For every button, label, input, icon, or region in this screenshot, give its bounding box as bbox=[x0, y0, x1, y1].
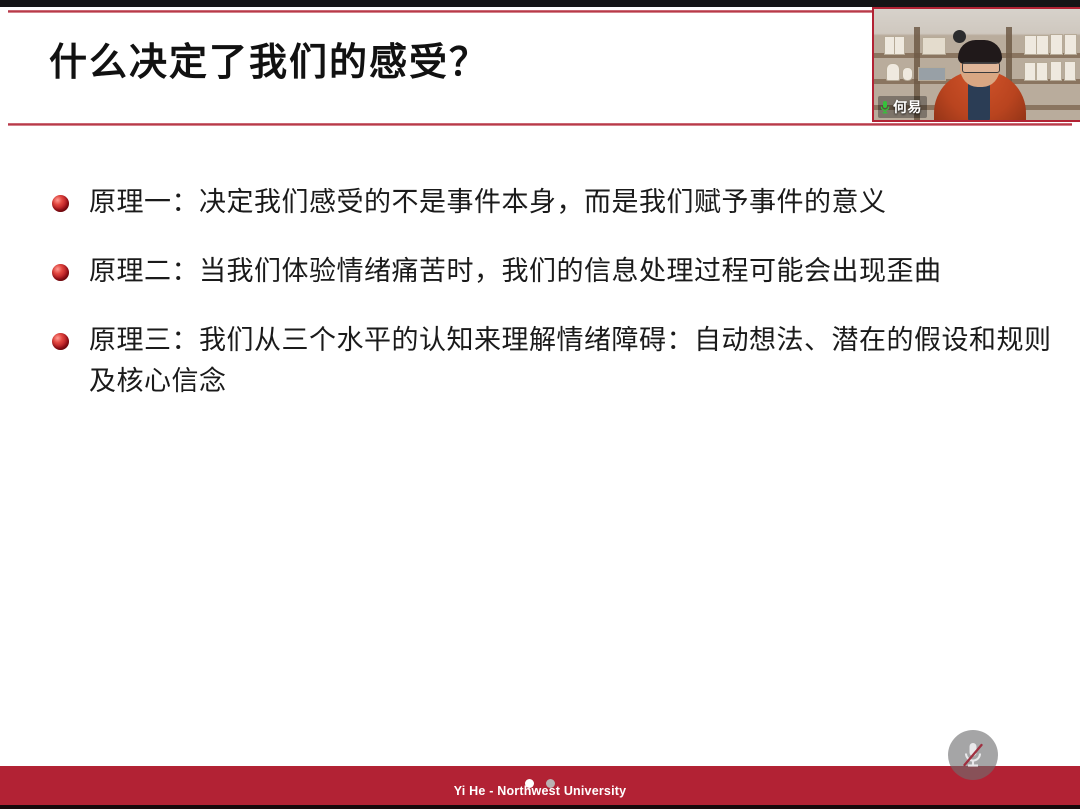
participant-video-tile[interactable]: 何易 bbox=[872, 7, 1080, 122]
book-decor bbox=[1036, 35, 1049, 55]
footer-credit: Yi He - Northwest University bbox=[0, 784, 1080, 798]
list-item: 原理二：当我们体验情绪痛苦时，我们的信息处理过程可能会出现歪曲 bbox=[0, 251, 1080, 292]
mute-toggle-button[interactable] bbox=[948, 730, 998, 780]
bullet-text: 原理三：我们从三个水平的认知来理解情绪障碍：自动想法、潜在的假设和规则及核心信念 bbox=[89, 320, 1054, 402]
slide-title: 什么决定了我们的感受？ bbox=[49, 43, 849, 85]
list-item: 原理三：我们从三个水平的认知来理解情绪障碍：自动想法、潜在的假设和规则及核心信念 bbox=[0, 320, 1080, 402]
book-decor bbox=[1050, 61, 1062, 81]
bullet-sphere-icon bbox=[52, 333, 69, 350]
speaker-decor bbox=[953, 30, 966, 43]
meeting-screen: 什么决定了我们的感受？ 原理一：决定我们感受的不是事件本身，而是我们赋予事件的意… bbox=[0, 0, 1080, 809]
book-decor bbox=[1024, 62, 1036, 81]
bullet-sphere-icon bbox=[52, 264, 69, 281]
microphone-muted-icon bbox=[959, 740, 987, 770]
vase-decor bbox=[886, 63, 900, 81]
box-decor bbox=[922, 37, 946, 55]
glasses-icon bbox=[962, 62, 1000, 73]
presentation-slide: 什么决定了我们的感受？ 原理一：决定我们感受的不是事件本身，而是我们赋予事件的意… bbox=[0, 7, 1080, 805]
top-letterbox-strip bbox=[0, 0, 1080, 7]
bullet-list: 原理一：决定我们感受的不是事件本身，而是我们赋予事件的意义 原理二：当我们体验情… bbox=[0, 182, 1080, 430]
microphone-on-icon bbox=[880, 100, 890, 114]
bullet-text: 原理二：当我们体验情绪痛苦时，我们的信息处理过程可能会出现歪曲 bbox=[89, 251, 942, 292]
book-decor bbox=[1064, 34, 1077, 55]
participant-hair bbox=[958, 40, 1002, 64]
bullet-sphere-icon bbox=[52, 195, 69, 212]
title-rule-bottom bbox=[8, 123, 1072, 126]
vase-decor bbox=[902, 67, 913, 81]
bullet-text: 原理一：决定我们感受的不是事件本身，而是我们赋予事件的意义 bbox=[89, 182, 887, 223]
book-decor bbox=[1050, 34, 1063, 55]
bottom-letterbox-strip bbox=[0, 805, 1080, 809]
participant-name: 何易 bbox=[893, 97, 922, 117]
book-decor bbox=[894, 36, 905, 55]
book-decor bbox=[1064, 61, 1076, 81]
book-decor bbox=[1036, 62, 1048, 81]
participant-name-chip: 何易 bbox=[878, 96, 927, 118]
object-decor bbox=[918, 67, 946, 81]
list-item: 原理一：决定我们感受的不是事件本身，而是我们赋予事件的意义 bbox=[0, 182, 1080, 223]
